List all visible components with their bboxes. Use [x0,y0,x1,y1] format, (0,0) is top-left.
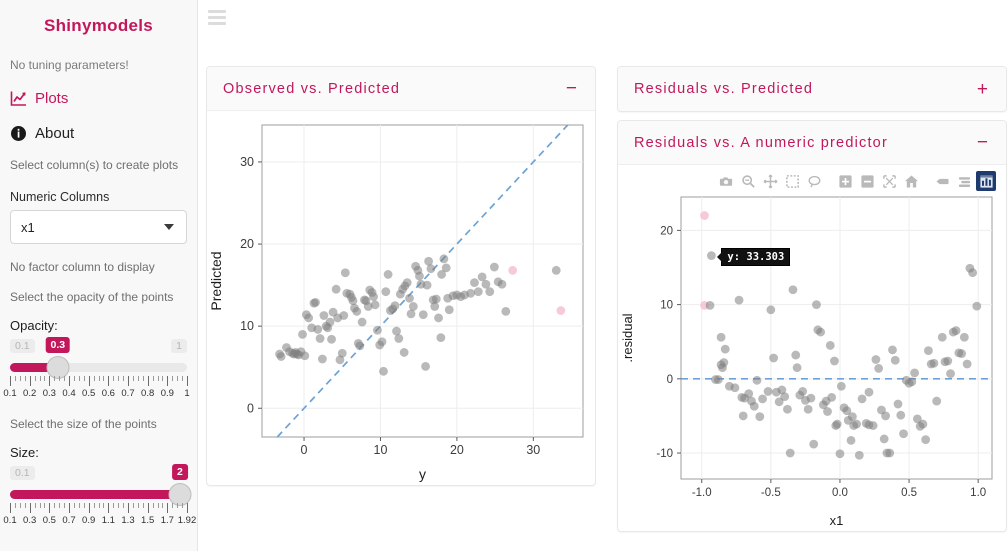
size-slider[interactable]: 0.1 2 0.10.30.50.70.91.11.31.51.71.92 [10,466,187,528]
svg-text:y: y [419,466,426,482]
slider-tick-minor [79,503,80,508]
slider-tick [167,503,168,513]
slider-tick-minor [177,503,178,508]
hamburger-bar [208,16,226,19]
hamburger-bar [208,10,226,13]
slider-tick-minor [133,503,134,508]
slider-tick [148,503,149,513]
slider-tick-minor [118,503,119,508]
slider-tick-minor [177,376,178,381]
slider-tick-minor [182,376,183,381]
slider-tick-label: 0.3 [43,388,56,399]
slider-tick-minor [35,503,36,508]
slider-tick-minor [118,376,119,381]
slider-tick-label: 0.6 [102,388,115,399]
slider-tick-minor [79,376,80,381]
slider-tick [89,376,90,386]
sidebar: Shinymodels No tuning parameters! Plots [0,0,198,551]
slider-tick-minor [162,503,163,508]
svg-text:10: 10 [374,443,388,457]
slider-tick-minor [103,503,104,508]
slider-tick-minor [143,503,144,508]
slider-tick-minor [138,503,139,508]
panel-residuals-vs-predicted-header[interactable]: Residuals vs. Predicted + [618,67,1006,111]
slider-tick-minor [94,376,95,381]
size-tick-marks [10,503,187,513]
slider-tick-minor [84,503,85,508]
panel-observed-vs-predicted-body: 01020300102030yPredicted [207,111,595,486]
slider-tick-minor [172,376,173,381]
numeric-columns-label: Numeric Columns [10,190,187,204]
svg-text:10: 10 [660,300,673,312]
slider-tick-minor [20,376,21,381]
size-value-bubble: 2 [172,464,188,480]
slider-tick-minor [74,503,75,508]
chart-line-icon [10,90,27,107]
size-help-text: Select the size of the points [10,417,187,431]
slider-tick-minor [123,503,124,508]
hover-tooltip: y: 33.303 [721,248,790,266]
chevron-down-icon [164,224,174,230]
svg-text:20: 20 [450,443,464,457]
numeric-columns-select[interactable]: x1 [10,210,187,244]
sidebar-item-plots-label: Plots [35,90,68,107]
svg-text:Predicted: Predicted [208,251,224,310]
slider-tick-label: 0.2 [23,388,36,399]
slider-tick-minor [158,503,159,508]
svg-text:0.0: 0.0 [832,487,848,499]
chart-observed-vs-predicted[interactable]: 01020300102030yPredicted [207,111,595,485]
panel-residuals-vs-numeric-collapse-icon[interactable]: − [975,133,990,152]
slider-tick-minor [123,376,124,381]
slider-tick-label: 0.5 [43,515,56,526]
slider-tick-minor [64,503,65,508]
opacity-value-bubble: 0.3 [45,337,70,353]
svg-text:30: 30 [526,443,540,457]
size-min-label: 0.1 [10,466,35,480]
slider-tick-minor [99,503,100,508]
slider-tick-minor [25,503,26,508]
slider-tick [89,503,90,513]
slider-tick-minor [158,376,159,381]
sidebar-item-about-label: About [35,125,74,142]
slider-tick-minor [172,503,173,508]
opacity-slider-title: Opacity: [10,318,187,333]
panel-residuals-vs-numeric-title: Residuals vs. A numeric predictor [634,135,888,151]
panel-residuals-vs-numeric: Residuals vs. A numeric predictor − [617,120,1007,532]
slider-tick-label: 0.9 [161,388,174,399]
slider-tick-label: 1.7 [161,515,174,526]
svg-text:30: 30 [240,155,254,169]
slider-tick-minor [59,376,60,381]
slider-tick-label: 0.4 [62,388,75,399]
slider-tick [167,376,168,386]
panel-observed-vs-predicted-title: Observed vs. Predicted [223,81,400,97]
slider-tick [187,503,188,513]
sidebar-item-about[interactable]: About [10,125,187,142]
svg-text:1.0: 1.0 [970,487,986,499]
slider-tick [69,376,70,386]
svg-text:0.5: 0.5 [901,487,917,499]
info-circle-icon [10,125,27,142]
slider-tick-minor [40,376,41,381]
opacity-help-text: Select the opacity of the points [10,290,187,304]
slider-tick-minor [153,503,154,508]
slider-tick-minor [44,376,45,381]
hamburger-icon[interactable] [208,10,226,25]
slider-tick-minor [74,376,75,381]
slider-tick-minor [113,503,114,508]
slider-tick [30,503,31,513]
slider-tick [108,503,109,513]
slider-tick-minor [15,503,16,508]
slider-tick-minor [94,503,95,508]
slider-tick-minor [162,376,163,381]
size-slider-fill [10,490,180,499]
panel-residuals-vs-predicted-title: Residuals vs. Predicted [634,81,813,97]
slider-tick-label: 0.9 [82,515,95,526]
hamburger-bar [208,22,226,25]
slider-tick-minor [153,376,154,381]
slider-tick-minor [25,376,26,381]
slider-tick-minor [54,503,55,508]
panel-residuals-vs-predicted: Residuals vs. Predicted + [617,66,1007,112]
svg-text:0: 0 [247,401,254,415]
svg-text:.residual: .residual [620,313,635,362]
svg-text:x1: x1 [830,513,844,528]
slider-tick-label: 1.3 [121,515,134,526]
slider-tick-minor [84,376,85,381]
select-columns-help: Select column(s) to create plots [10,158,187,172]
opacity-tick-marks [10,376,187,386]
slider-tick-minor [113,376,114,381]
slider-tick-minor [44,503,45,508]
slider-tick-minor [64,376,65,381]
app-brand-title: Shinymodels [10,8,187,36]
slider-tick-minor [99,376,100,381]
slider-tick-minor [15,376,16,381]
size-slider-title: Size: [10,445,187,460]
slider-tick-minor [133,376,134,381]
slider-tick [49,503,50,513]
panel-residuals-vs-numeric-body: -1.0-0.50.00.51.0-1001020x1.residual y: … [618,165,1006,532]
slider-tick-label: 1 [184,388,189,399]
panel-residuals-vs-predicted-expand-icon[interactable]: + [975,80,990,99]
slider-tick [128,376,129,386]
panel-observed-vs-predicted: Observed vs. Predicted − 01020300102030y… [206,66,596,486]
svg-text:-10: -10 [656,448,673,460]
slider-tick-label: 0.5 [82,388,95,399]
slider-tick [187,376,188,386]
svg-text:10: 10 [240,319,254,333]
no-factor-column-note: No factor column to display [10,260,187,274]
slider-tick-minor [20,503,21,508]
opacity-min-label: 0.1 [10,339,35,353]
panel-observed-vs-predicted-collapse-icon[interactable]: − [564,79,579,98]
slider-tick-label: 1.5 [141,515,154,526]
panel-residuals-vs-numeric-header[interactable]: Residuals vs. A numeric predictor − [618,121,1006,165]
sidebar-item-plots[interactable]: Plots [10,90,187,107]
size-tick-labels: 0.10.30.50.70.91.11.31.51.71.92 [10,515,187,528]
svg-text:20: 20 [660,225,673,237]
panel-observed-vs-predicted-header[interactable]: Observed vs. Predicted − [207,67,595,111]
slider-tick-label: 0.3 [23,515,36,526]
svg-text:0: 0 [301,443,308,457]
slider-tick-minor [103,376,104,381]
svg-text:0: 0 [667,374,673,386]
slider-tick-label: 0.1 [3,515,16,526]
slider-tick [10,503,11,513]
no-tuning-parameters-note: No tuning parameters! [10,58,187,72]
chart-residuals-vs-numeric[interactable]: -1.0-0.50.00.51.0-1001020x1.residual [618,165,1006,531]
slider-tick-label: 1.1 [102,515,115,526]
slider-tick-minor [138,376,139,381]
svg-text:20: 20 [240,237,254,251]
slider-tick [148,376,149,386]
svg-text:-0.5: -0.5 [761,487,781,499]
slider-tick [69,503,70,513]
slider-tick [10,376,11,386]
slider-tick [30,376,31,386]
opacity-max-label: 1 [171,339,187,353]
numeric-columns-value: x1 [21,220,35,235]
slider-tick-minor [35,376,36,381]
slider-tick-minor [40,503,41,508]
slider-tick-minor [143,376,144,381]
slider-tick [49,376,50,386]
slider-tick-label: 0.7 [62,515,75,526]
slider-tick-label: 0.1 [3,388,16,399]
slider-tick-minor [182,503,183,508]
slider-tick-label: 1.92 [178,515,197,526]
opacity-tick-labels: 0.10.20.30.40.50.60.70.80.91 [10,388,187,401]
slider-tick [128,503,129,513]
opacity-slider[interactable]: 0.1 1 0.3 0.10.20.30.40.50.60.70.80.91 [10,339,187,401]
slider-tick-label: 0.8 [141,388,154,399]
slider-tick [108,376,109,386]
slider-tick-minor [59,503,60,508]
slider-tick-label: 0.7 [121,388,134,399]
svg-text:-1.0: -1.0 [692,487,712,499]
slider-tick-minor [54,376,55,381]
